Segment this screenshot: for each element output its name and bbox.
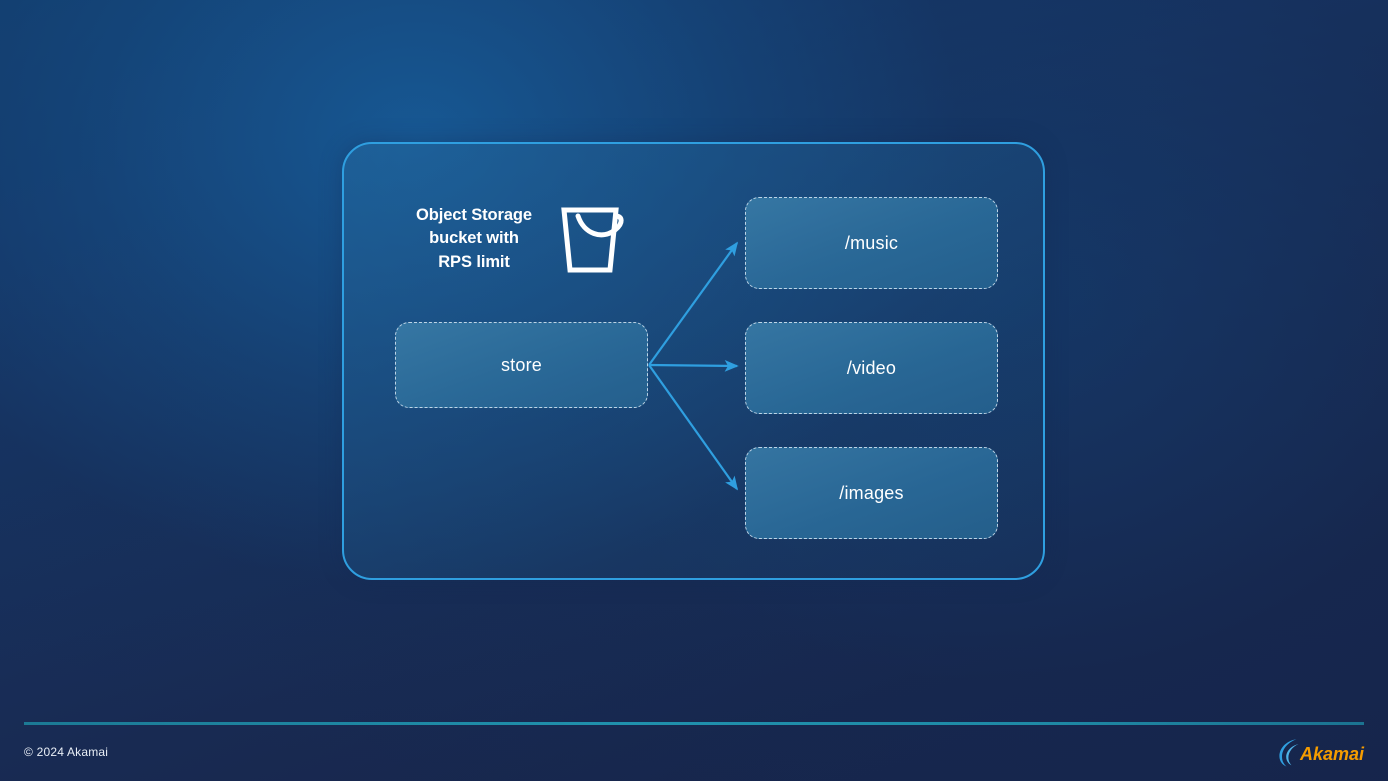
arrow-store-to-music — [649, 243, 737, 365]
bucket-caption-label: Object Storage bucket with RPS limit — [404, 204, 544, 274]
node-store-label: store — [501, 355, 542, 376]
node-store[interactable]: store — [395, 322, 648, 408]
arrow-store-to-video — [649, 365, 737, 366]
footer-copyright: © 2024 Akamai — [24, 745, 108, 759]
akamai-wordmark: Akamai — [1299, 744, 1365, 764]
diagram-container: Object Storage bucket with RPS limit sto… — [342, 142, 1045, 580]
akamai-logo: Akamai — [1276, 736, 1368, 768]
node-video[interactable]: /video — [745, 322, 998, 414]
footer-divider — [24, 722, 1364, 725]
bucket-caption: Object Storage bucket with RPS limit — [404, 202, 654, 276]
bucket-icon — [558, 202, 630, 276]
node-video-label: /video — [847, 358, 896, 379]
node-music[interactable]: /music — [745, 197, 998, 289]
akamai-wave-icon: Akamai — [1276, 736, 1368, 768]
node-images[interactable]: /images — [745, 447, 998, 539]
arrow-store-to-images — [649, 365, 737, 489]
node-images-label: /images — [839, 483, 903, 504]
slide-canvas: Object Storage bucket with RPS limit sto… — [0, 0, 1388, 781]
node-music-label: /music — [845, 233, 898, 254]
